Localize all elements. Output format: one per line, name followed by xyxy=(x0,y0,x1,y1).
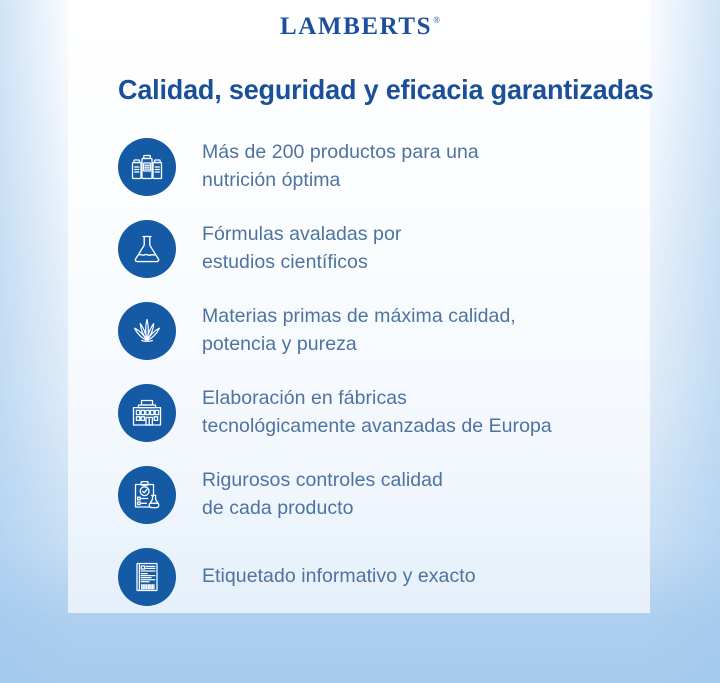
list-item: Fórmulas avaladas por estudios científic… xyxy=(118,208,638,290)
product-label-barcode-icon xyxy=(118,548,176,606)
left-edge-gradient xyxy=(0,0,70,683)
clipboard-check-flask-icon xyxy=(118,466,176,524)
page-title: Calidad, seguridad y eficacia garantizad… xyxy=(118,74,620,106)
list-item: Rigurosos controles calidad de cada prod… xyxy=(118,454,638,536)
factory-building-icon xyxy=(118,384,176,442)
plant-leaves-icon xyxy=(118,302,176,360)
list-item-label: Rigurosos controles calidad de cada prod… xyxy=(202,467,443,522)
supplement-bottles-icon xyxy=(118,138,176,196)
flask-icon xyxy=(118,220,176,278)
registered-trademark-icon: ® xyxy=(433,16,440,25)
poster-canvas: LAMBERTS ® Calidad, seguridad y eficacia… xyxy=(0,0,720,683)
brand-logo-text: LAMBERTS xyxy=(280,14,432,39)
list-item: Más de 200 productos para una nutrición … xyxy=(118,126,638,208)
list-item: Etiquetado informativo y exacto xyxy=(118,536,638,618)
list-item-label: Más de 200 productos para una nutrición … xyxy=(202,139,479,194)
list-item-label: Fórmulas avaladas por estudios científic… xyxy=(202,221,401,276)
brand-logo: LAMBERTS ® xyxy=(280,14,440,39)
right-edge-gradient xyxy=(648,0,720,683)
list-item-label: Materias primas de máxima calidad, poten… xyxy=(202,303,516,358)
list-item-label: Elaboración en fábricas tecnológicamente… xyxy=(202,385,552,440)
header: LAMBERTS ® xyxy=(0,0,720,52)
list-item: Materias primas de máxima calidad, poten… xyxy=(118,290,638,372)
list-item: Elaboración en fábricas tecnológicamente… xyxy=(118,372,638,454)
feature-list: Más de 200 productos para una nutrición … xyxy=(118,126,638,618)
list-item-label: Etiquetado informativo y exacto xyxy=(202,563,476,591)
